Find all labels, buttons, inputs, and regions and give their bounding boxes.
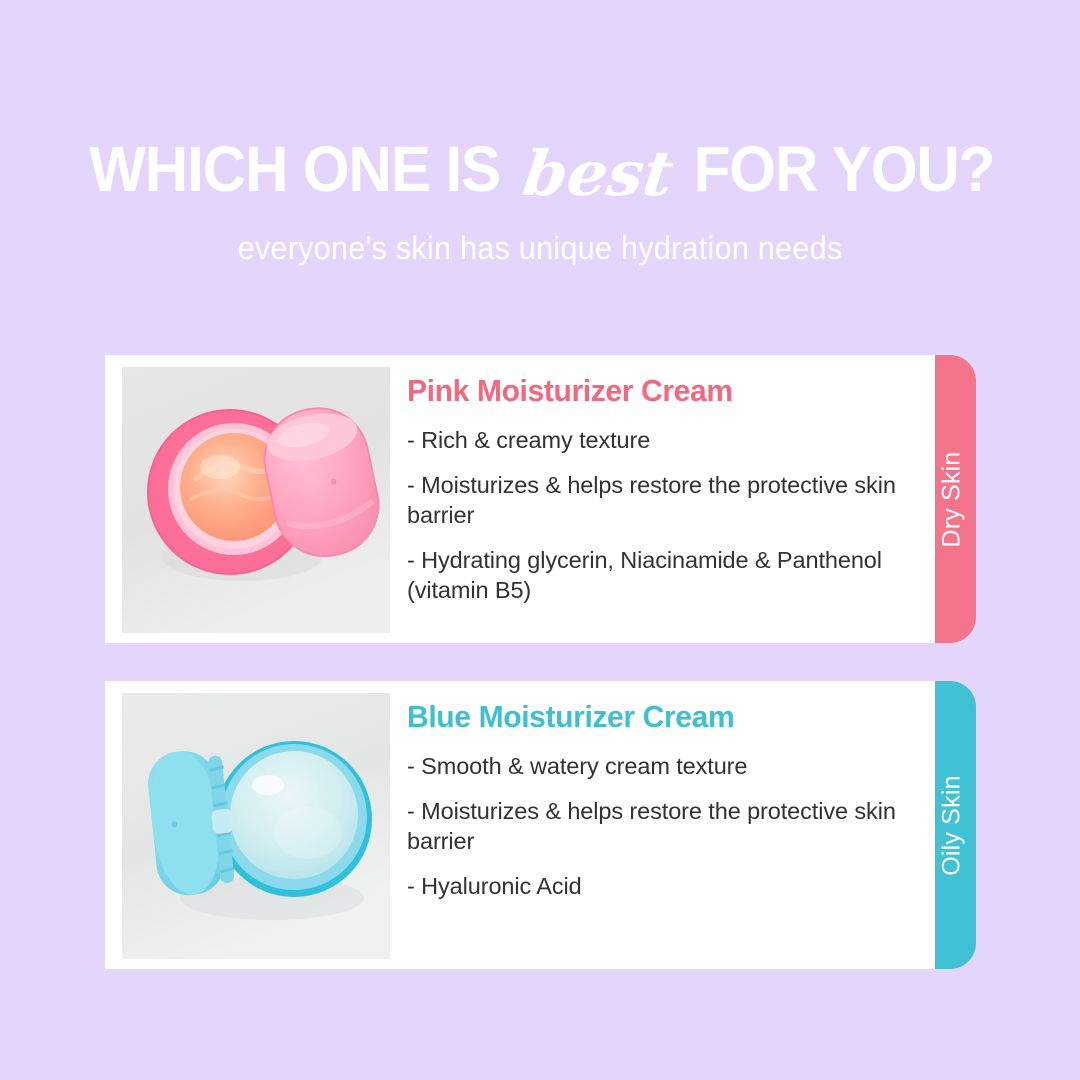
product-card-blue[interactable]: Blue Moisturizer Cream - Smooth & watery…	[105, 681, 935, 969]
headline-script-word: best	[506, 131, 692, 217]
product-card-list: Dry Skin	[0, 355, 1080, 1007]
pink-jar-illustration	[122, 367, 390, 633]
product-card-pink[interactable]: Pink Moisturizer Cream - Rich & creamy t…	[105, 355, 935, 643]
side-tab-dry-skin[interactable]: Dry Skin	[928, 355, 976, 643]
product-card-pink-wrapper: Dry Skin	[0, 355, 1080, 643]
product-details-blue: Blue Moisturizer Cream - Smooth & watery…	[390, 681, 935, 916]
product-bullet: - Smooth & watery cream texture	[407, 751, 911, 781]
side-tab-label: Dry Skin	[938, 451, 967, 547]
side-tab-label: Oily Skin	[938, 775, 967, 875]
product-bullet: - Moisturizes & helps restore the protec…	[407, 470, 911, 530]
header: WHICH ONE IS best FOR YOU? everyone's sk…	[0, 0, 1080, 267]
product-title-blue: Blue Moisturizer Cream	[407, 699, 896, 735]
product-title-pink: Pink Moisturizer Cream	[407, 373, 896, 409]
headline-part-1: WHICH ONE IS	[89, 126, 500, 212]
product-photo-blue	[122, 693, 390, 959]
product-bullet: - Rich & creamy texture	[407, 425, 911, 455]
product-bullet: - Hyaluronic Acid	[407, 871, 911, 901]
blue-jar-illustration	[122, 693, 390, 959]
product-photo-pink	[122, 367, 390, 633]
side-tab-oily-skin[interactable]: Oily Skin	[928, 681, 976, 969]
headline-part-2: FOR YOU?	[693, 126, 994, 212]
product-details-pink: Pink Moisturizer Cream - Rich & creamy t…	[390, 355, 935, 620]
page-headline: WHICH ONE IS best FOR YOU?	[0, 126, 1080, 212]
product-bullet: - Moisturizes & helps restore the protec…	[407, 796, 911, 856]
page-subtitle: everyone's skin has unique hydration nee…	[22, 230, 1059, 267]
product-card-blue-wrapper: Oily Skin	[0, 681, 1080, 969]
product-bullet: - Hydrating glycerin, Niacinamide & Pant…	[407, 545, 911, 605]
